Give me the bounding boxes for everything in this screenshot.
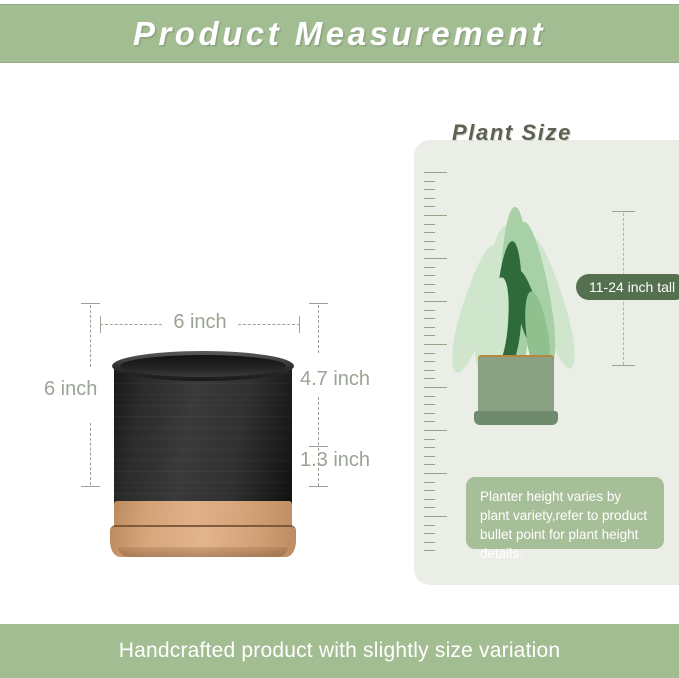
- plant-height-cap-top: [612, 211, 635, 212]
- ruler-tick-minor: [424, 353, 435, 354]
- saucer-height-label: 1.3 inch: [300, 449, 370, 472]
- ruler-tick-minor: [424, 404, 435, 405]
- ruler-tick-minor: [424, 542, 435, 543]
- total-height-label: 6 inch: [44, 378, 97, 401]
- ruler-tick-minor: [424, 327, 435, 328]
- ruler-tick-minor: [424, 370, 435, 371]
- footer-note: Handcrafted product with slightly size v…: [119, 639, 560, 663]
- ruler-tick-major: [424, 430, 447, 431]
- ruler-tick-minor: [424, 447, 435, 448]
- ruler-tick-minor: [424, 198, 435, 199]
- plant-height-cap-bottom: [612, 365, 635, 366]
- ruler-tick-minor: [424, 490, 435, 491]
- total-height-line-lower: [90, 423, 91, 485]
- product-measurement-diagram: 6 inch 6 inch 4.7 inch 1.3 inch: [0, 63, 410, 624]
- ruler-tick-minor: [424, 284, 435, 285]
- header-banner: Product Measurement: [0, 4, 679, 63]
- ruler-tick-major: [424, 258, 447, 259]
- ruler-tick-minor: [424, 413, 435, 414]
- ruler-tick-major: [424, 387, 447, 388]
- total-height-cap-top: [81, 303, 100, 304]
- ruler-tick-minor: [424, 378, 435, 379]
- pot-body: [114, 361, 292, 509]
- ruler-tick-minor: [424, 318, 435, 319]
- pot-height-line-upper: [318, 305, 319, 353]
- ruler-tick-minor: [424, 533, 435, 534]
- plant-size-title: Plant Size: [452, 120, 572, 146]
- ruler-tick-major: [424, 344, 447, 345]
- ruler-tick-minor: [424, 189, 435, 190]
- ruler-tick-minor: [424, 224, 435, 225]
- pot-height-label: 4.7 inch: [300, 368, 370, 391]
- ruler-tick-minor: [424, 525, 435, 526]
- width-dimension: 6 inch: [100, 324, 300, 326]
- ruler-tick-minor: [424, 439, 435, 440]
- plant-pot-base: [474, 411, 558, 425]
- plant-height-note: Planter height varies by plant variety,r…: [466, 477, 664, 549]
- ruler-tick-minor: [424, 335, 435, 336]
- ruler-tick-minor: [424, 507, 435, 508]
- ruler-tick-major: [424, 516, 447, 517]
- ruler-tick-minor: [424, 361, 435, 362]
- ruler-tick-minor: [424, 550, 435, 551]
- planter-illustration: [110, 351, 296, 557]
- saucer-shadow: [118, 547, 288, 557]
- page-title: Product Measurement: [133, 15, 546, 53]
- ruler-tick-major: [424, 215, 447, 216]
- ruler-tick-minor: [424, 241, 435, 242]
- ruler-tick-minor: [424, 206, 435, 207]
- ruler-tick-minor: [424, 249, 435, 250]
- width-dimension-label: 6 inch: [167, 311, 232, 334]
- plant-height-badge: 11-24 inch tall: [576, 274, 679, 300]
- pot-rim-inner: [120, 355, 286, 377]
- ruler-tick-minor: [424, 267, 435, 268]
- total-height-line-upper: [90, 305, 91, 367]
- ruler-tick-minor: [424, 181, 435, 182]
- ruler-tick-minor: [424, 464, 435, 465]
- ruler-tick-major: [424, 473, 447, 474]
- plant-pot: [478, 357, 554, 419]
- ruler-tick-minor: [424, 232, 435, 233]
- width-dimension-line-right: [238, 324, 300, 325]
- ruler-tick-minor: [424, 310, 435, 311]
- total-height-cap-bottom: [81, 486, 100, 487]
- pot-height-line-lower: [318, 397, 319, 445]
- ruler-tick-minor: [424, 456, 435, 457]
- ruler-tick-minor: [424, 421, 435, 422]
- width-dimension-line-left: [100, 324, 162, 325]
- ruler-tick-minor: [424, 396, 435, 397]
- snake-plant-illustration: [460, 205, 570, 435]
- ruler-tick-minor: [424, 482, 435, 483]
- ruler-tick-major: [424, 301, 447, 302]
- measuring-ruler: [424, 172, 450, 570]
- footer-banner: Handcrafted product with slightly size v…: [0, 624, 679, 678]
- ruler-tick-minor: [424, 275, 435, 276]
- saucer-height-cap-bottom: [309, 486, 328, 487]
- pot-height-cap-top: [309, 303, 328, 304]
- ruler-tick-minor: [424, 499, 435, 500]
- ruler-tick-major: [424, 172, 447, 173]
- ruler-tick-minor: [424, 292, 435, 293]
